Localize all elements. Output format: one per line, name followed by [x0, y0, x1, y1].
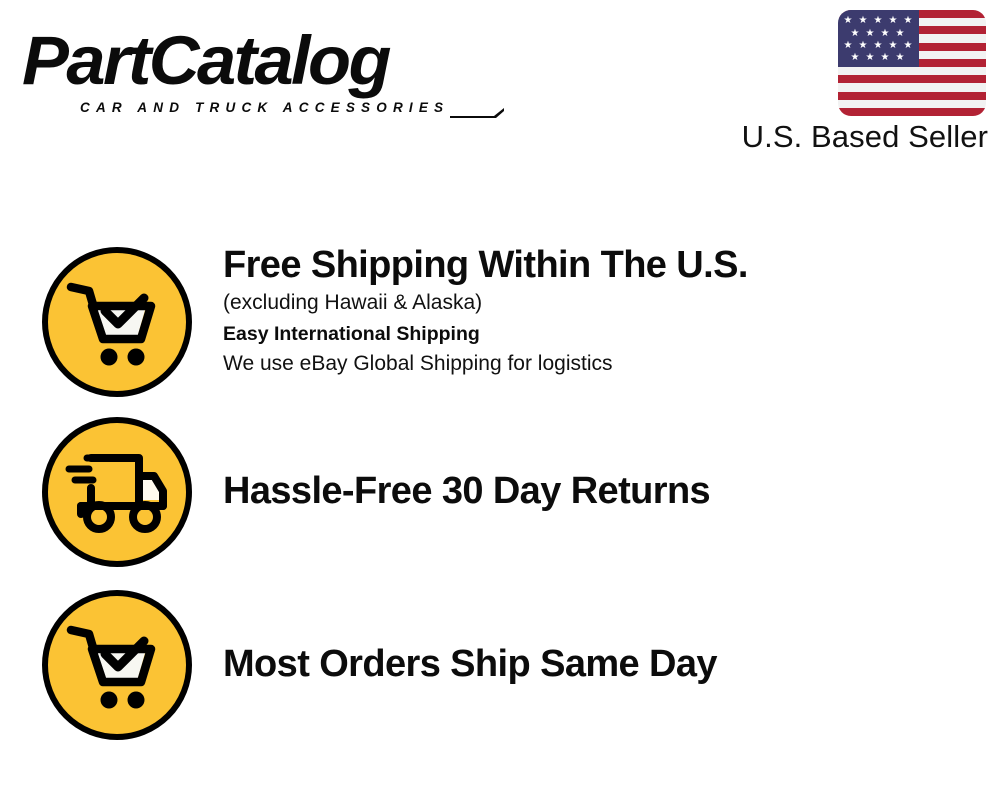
flag-star: ★ — [888, 16, 898, 26]
flag-star: ★ — [903, 41, 913, 51]
page-header: PartCatalog CAR AND TRUCK ACCESSORIES ★ … — [0, 0, 1000, 175]
logo-swash-icon — [450, 108, 504, 118]
feature-subtitle: (excluding Hawaii & Alaska) — [223, 287, 983, 319]
feature-sub-strong: Easy International Shipping — [223, 319, 983, 349]
feature-text-block: Free Shipping Within The U.S. (excluding… — [223, 243, 983, 379]
feature-title: Most Orders Ship Same Day — [223, 642, 983, 686]
us-based-seller-label: U.S. Based Seller — [723, 119, 988, 155]
flag-star: ★ — [843, 41, 853, 51]
flag-star: ★ — [888, 41, 898, 51]
flag-stripe — [838, 100, 986, 108]
brand-tagline: CAR AND TRUCK ACCESSORIES — [80, 100, 449, 115]
flag-star: ★ — [865, 53, 875, 63]
flag-star: ★ — [880, 53, 890, 63]
flag-star: ★ — [873, 41, 883, 51]
flag-stripe — [838, 108, 986, 116]
flag-star: ★ — [903, 16, 913, 26]
flag-star: ★ — [880, 29, 890, 39]
flag-stripe — [838, 67, 986, 75]
flag-star: ★ — [865, 29, 875, 39]
flag-stripe — [838, 83, 986, 91]
flag-stripe — [838, 92, 986, 100]
flag-star: ★ — [895, 29, 905, 39]
feature-title: Hassle-Free 30 Day Returns — [223, 469, 983, 513]
flag-canton: ★ ★ ★ ★ ★ ★ ★ ★ ★ ★ ★ ★ ★ ★ ★ ★ ★ ★ — [838, 10, 919, 67]
feature-row: Hassle-Free 30 Day Returns — [0, 417, 1000, 569]
shopping-cart-check-icon — [42, 247, 192, 397]
flag-star: ★ — [858, 16, 868, 26]
feature-row: Free Shipping Within The U.S. (excluding… — [0, 247, 1000, 399]
brand-wordmark: PartCatalog — [22, 24, 389, 98]
feature-title: Free Shipping Within The U.S. — [223, 243, 983, 287]
feature-text-block: Hassle-Free 30 Day Returns — [223, 469, 983, 513]
delivery-truck-icon — [42, 417, 192, 567]
flag-star: ★ — [858, 41, 868, 51]
feature-sub-note: We use eBay Global Shipping for logistic… — [223, 349, 983, 379]
feature-text-block: Most Orders Ship Same Day — [223, 642, 983, 686]
us-flag-icon: ★ ★ ★ ★ ★ ★ ★ ★ ★ ★ ★ ★ ★ ★ ★ ★ ★ ★ — [838, 10, 986, 116]
shopping-cart-check-icon — [42, 590, 192, 740]
flag-star: ★ — [850, 29, 860, 39]
flag-star: ★ — [873, 16, 883, 26]
flag-stripe — [838, 75, 986, 83]
flag-star: ★ — [895, 53, 905, 63]
feature-row: Most Orders Ship Same Day — [0, 590, 1000, 742]
flag-star: ★ — [843, 16, 853, 26]
partcatalog-logo[interactable]: PartCatalog CAR AND TRUCK ACCESSORIES — [22, 24, 492, 114]
flag-star: ★ — [850, 53, 860, 63]
